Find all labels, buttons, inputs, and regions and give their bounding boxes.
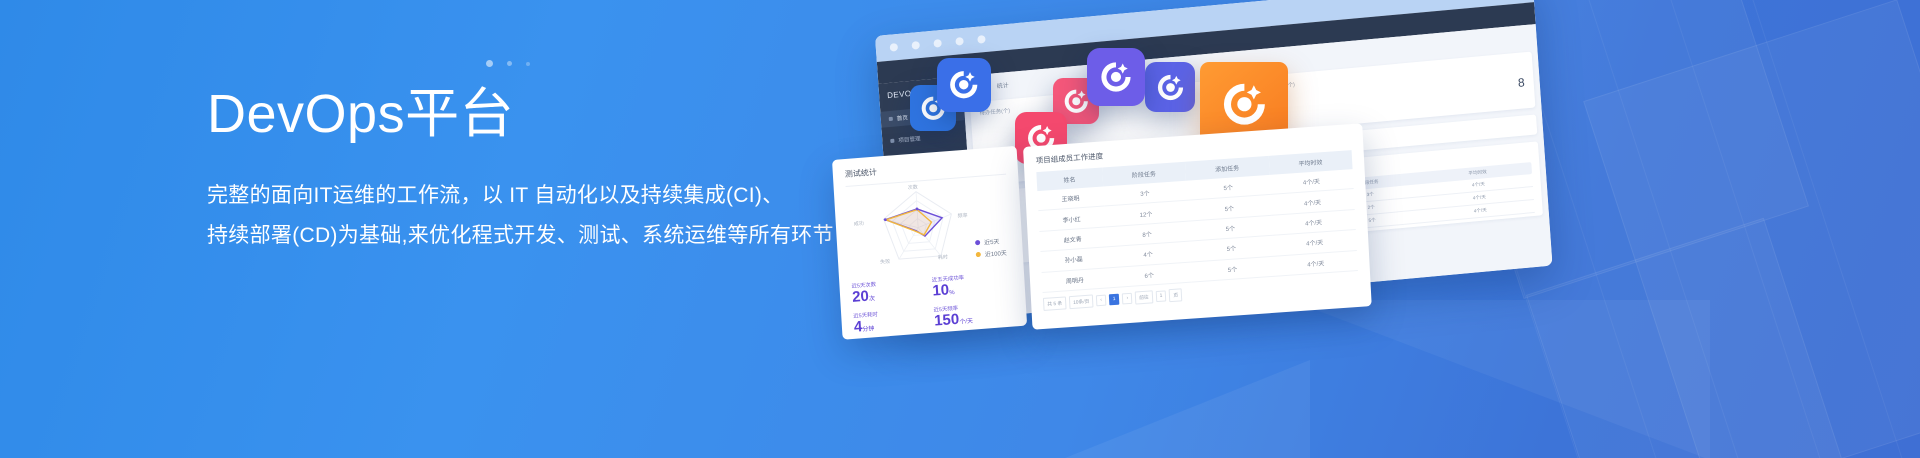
table-cell: 6个 [1107,262,1191,288]
devops-logo-icon [947,68,980,101]
radar-axis-label-fail: 失败 [880,258,890,266]
pagination-prev[interactable]: ‹ [1096,294,1106,306]
radar-axis-label-count: 次数 [908,184,918,192]
stat-number: 150 [934,310,960,329]
devops-hero-banner: DevOps平台 完整的面向IT运维的工作流，以 IT 自动化以及持续集成(CI… [0,0,1920,458]
pagination-jump-input[interactable]: 1 [1155,290,1166,302]
stat-number: 10 [932,281,950,299]
radar-axis-label-duration: 耗时 [938,253,948,261]
stat-value: 10% [932,278,1013,301]
table-cell: 4个/天 [1274,250,1358,276]
stat-value: 20次 [852,284,933,307]
dot-accent-row [486,60,530,67]
sidebar-item-label: 首页 [897,113,909,122]
legend-color-swatch [976,252,981,257]
folder-icon [890,139,894,143]
radar-chart-area: 次数 频率 耗时 失败 成功 [846,177,1012,275]
dot-3 [526,62,530,66]
stat-duration: 近5天耗时 4分钟 [853,305,935,336]
radar-axis-label-frequency: 频率 [957,212,967,220]
stat-number: 20 [852,288,870,306]
devops-logo-icon [1218,79,1271,129]
legend-color-swatch [975,240,980,245]
devops-logo-icon [1098,59,1134,95]
table-body: 王晓明 3个 5个 4个/天 李小红 12个 5个 4个/天 赵文青 8个 [1037,169,1358,292]
table-cell: 5个 [1190,256,1274,282]
stat-unit: 次 [869,296,875,302]
dot-2 [507,61,512,66]
legend-label: 近100天 [985,248,1007,259]
chrome-dot-5 [977,35,986,44]
chrome-dot-2 [911,41,920,50]
home-icon [889,117,893,121]
pagination-page-size[interactable]: 10条/页 [1069,294,1094,309]
dot-1 [486,60,493,67]
stat-value: 150个/天 [934,307,1015,330]
test-statistics-card: 测试统计 次数 频率 耗时 失败 成功 [832,146,1027,340]
radar-axis-label-success: 成功 [854,220,864,228]
hero-subtitle-line-1: 完整的面向IT运维的工作流，以 IT 自动化以及持续集成(CI)、 [207,176,907,216]
product-mockup-scene: DEVOPS 首页 项目管理 流程管理 任务管 [855,0,1920,458]
stat-unit: 个/天 [959,318,973,325]
pagination-next[interactable]: › [1122,293,1132,305]
stat-success-rate: 近五天成功率 10% [932,270,1014,301]
logo-badge-blue-large [937,58,991,112]
sidebar-item-label: 项目管理 [898,134,921,144]
stat-count: 近5天次数 20次 [851,276,933,307]
chrome-dot-4 [955,37,964,46]
page-title: DevOps平台 [207,82,907,148]
statistics-grid: 近5天次数 20次 近五天成功率 10% 近5天耗时 4分钟 近5天频率 150… [851,265,1015,336]
stat-unit: 分钟 [862,326,874,333]
devops-logo-icon [1062,87,1091,116]
logo-badge-indigo [1145,62,1195,112]
pagination-jump-unit: 页 [1169,288,1182,302]
radar-chart [846,178,991,275]
stat-frequency: 近5天频率 150个/天 [933,299,1015,330]
pagination-page-1[interactable]: 1 [1109,294,1120,306]
radar-legend: 近5天 近100天 [975,233,1007,259]
member-progress-card: 项目组成员工作进度 姓名 阶段任务 添加任务 平均时效 王晓明 3个 5个 [1023,123,1372,329]
stat-unit: % [949,290,955,296]
legend-item-100days: 近100天 [976,248,1007,259]
legend-label: 近5天 [984,236,1000,246]
table-cell: 周明丹 [1042,267,1108,292]
progress-table: 姓名 阶段任务 添加任务 平均时效 王晓明 3个 5个 4个/天 李小红 [1036,150,1358,293]
chrome-dot-1 [890,43,899,52]
hero-subtitle-line-2: 持续部署(CD)为基础,来优化程式开发、测试、系统运维等所有环节 [207,216,907,256]
pagination-total: 共 5 条 [1043,296,1067,311]
chrome-dot-3 [933,39,942,48]
logo-badge-violet [1087,48,1145,106]
hero-text-block: DevOps平台 完整的面向IT运维的工作流，以 IT 自动化以及持续集成(CI… [207,82,907,256]
devops-logo-icon [1155,72,1186,103]
legend-item-5days: 近5天 [975,236,1006,247]
tab-statistics[interactable]: 统计 [996,80,1009,93]
hero-subtitle: 完整的面向IT运维的工作流，以 IT 自动化以及持续集成(CI)、 持续部署(C… [207,176,907,256]
pagination-jump-label: 前往 [1135,290,1153,304]
